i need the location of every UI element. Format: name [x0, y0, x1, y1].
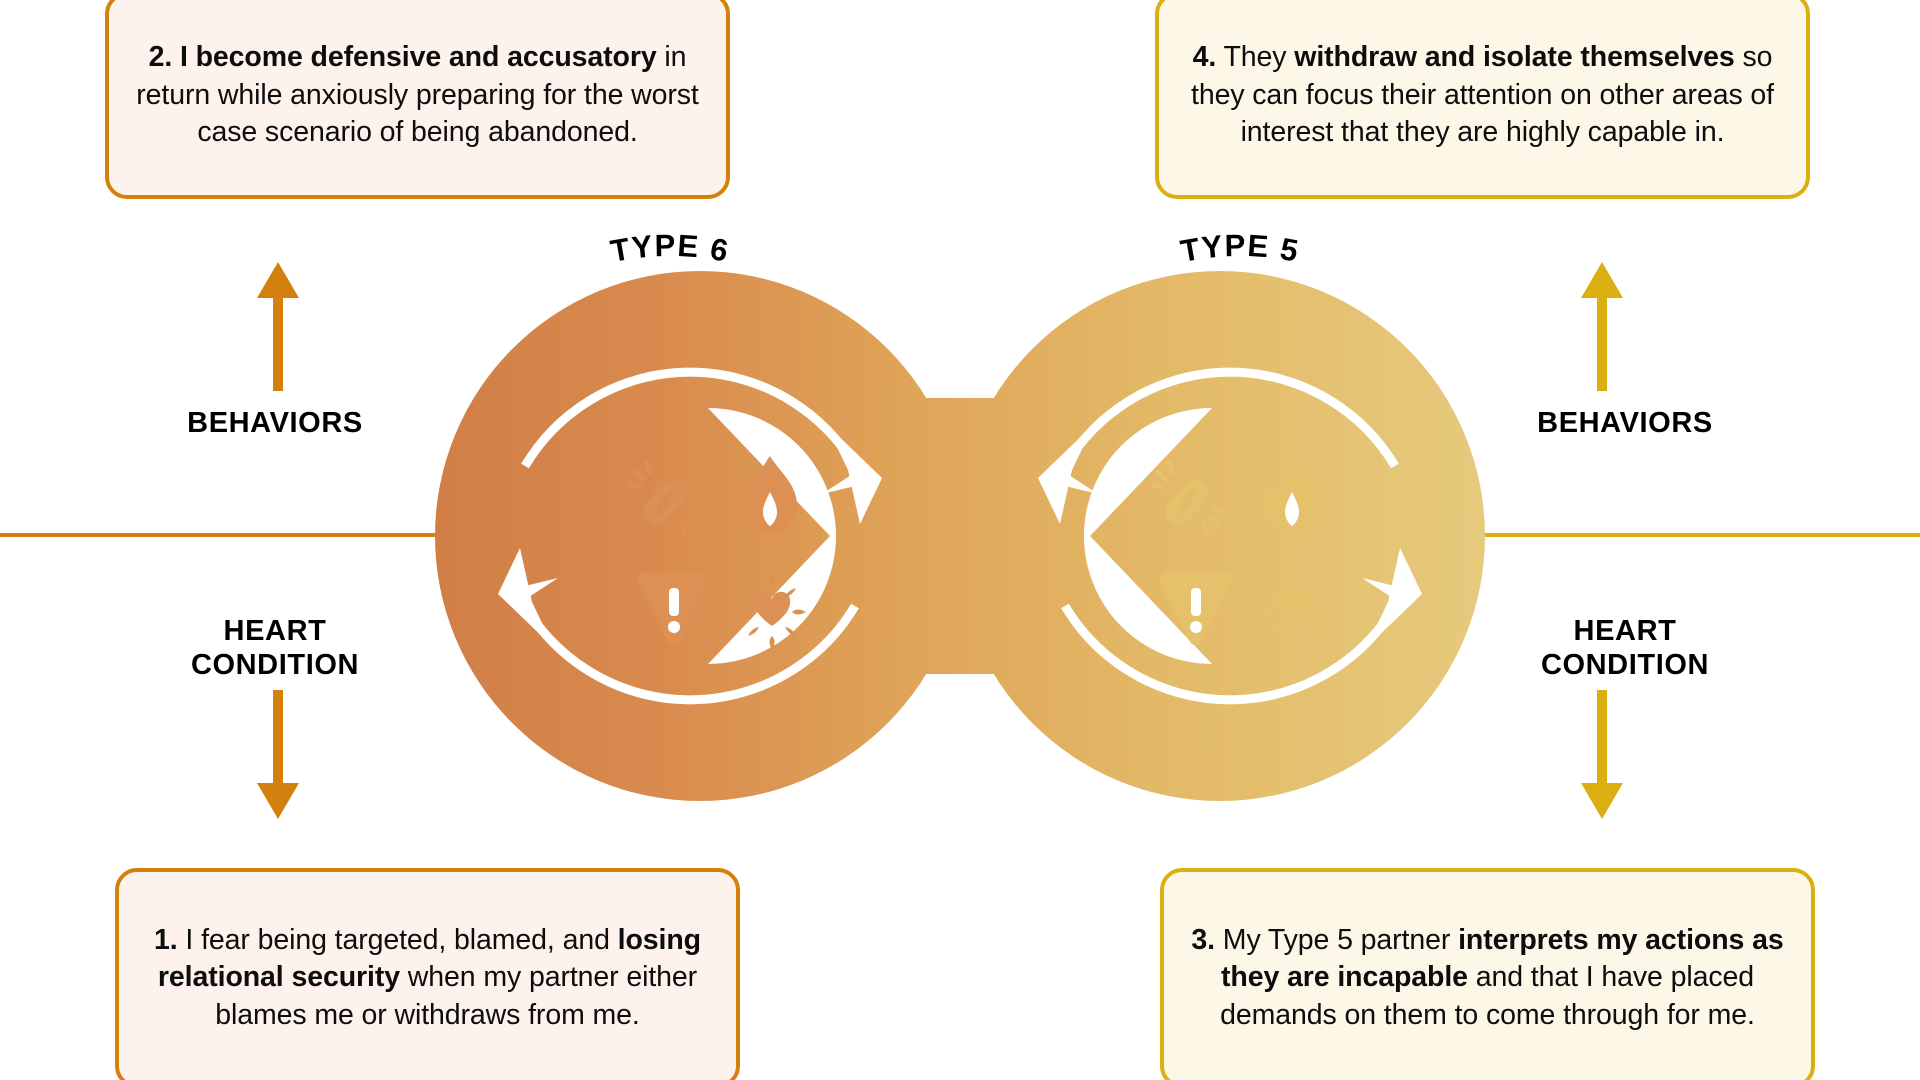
arrow-down-right-icon — [1571, 688, 1633, 823]
type-5-text: TYPE 5 — [1178, 228, 1302, 269]
callout-2-text: 2. I become defensive and accusatory in … — [135, 39, 700, 152]
callout-4-text: 4. They withdraw and isolate themselves … — [1185, 39, 1780, 152]
label-behaviors-right: BEHAVIORS — [1500, 406, 1750, 440]
type-6-label: TYPE 6 — [540, 222, 800, 292]
infographic-canvas: 2. I become defensive and accusatory in … — [0, 0, 1920, 1080]
svg-text:TYPE 5: TYPE 5 — [1178, 228, 1302, 269]
arrow-up-right-icon — [1571, 258, 1633, 393]
callout-box-4: 4. They withdraw and isolate themselves … — [1155, 0, 1810, 199]
type-5-label: TYPE 5 — [1110, 222, 1370, 292]
type-6-text: TYPE 6 — [608, 228, 732, 269]
label-heart-line1: HEART — [1500, 614, 1750, 648]
divider-line-right — [1470, 533, 1920, 537]
label-heart-line2: CONDITION — [150, 648, 400, 682]
label-heart-condition-left: HEART CONDITION — [150, 614, 400, 682]
label-heart-line1: HEART — [150, 614, 400, 648]
svg-text:TYPE 6: TYPE 6 — [608, 228, 732, 269]
label-behaviors-left: BEHAVIORS — [150, 406, 400, 440]
callout-3-text: 3. My Type 5 partner interprets my actio… — [1190, 922, 1785, 1035]
callout-box-3: 3. My Type 5 partner interprets my actio… — [1160, 868, 1815, 1080]
callout-box-1: 1. I fear being targeted, blamed, and lo… — [115, 868, 740, 1080]
arrow-up-left-icon — [247, 258, 309, 393]
arrow-down-left-icon — [247, 688, 309, 823]
infinity-body — [430, 228, 1490, 848]
divider-line-left — [0, 533, 452, 537]
label-heart-condition-right: HEART CONDITION — [1500, 614, 1750, 682]
callout-box-2: 2. I become defensive and accusatory in … — [105, 0, 730, 199]
callout-1-text: 1. I fear being targeted, blamed, and lo… — [145, 922, 710, 1035]
label-heart-line2: CONDITION — [1500, 648, 1750, 682]
infinity-loop-graphic — [430, 228, 1490, 848]
